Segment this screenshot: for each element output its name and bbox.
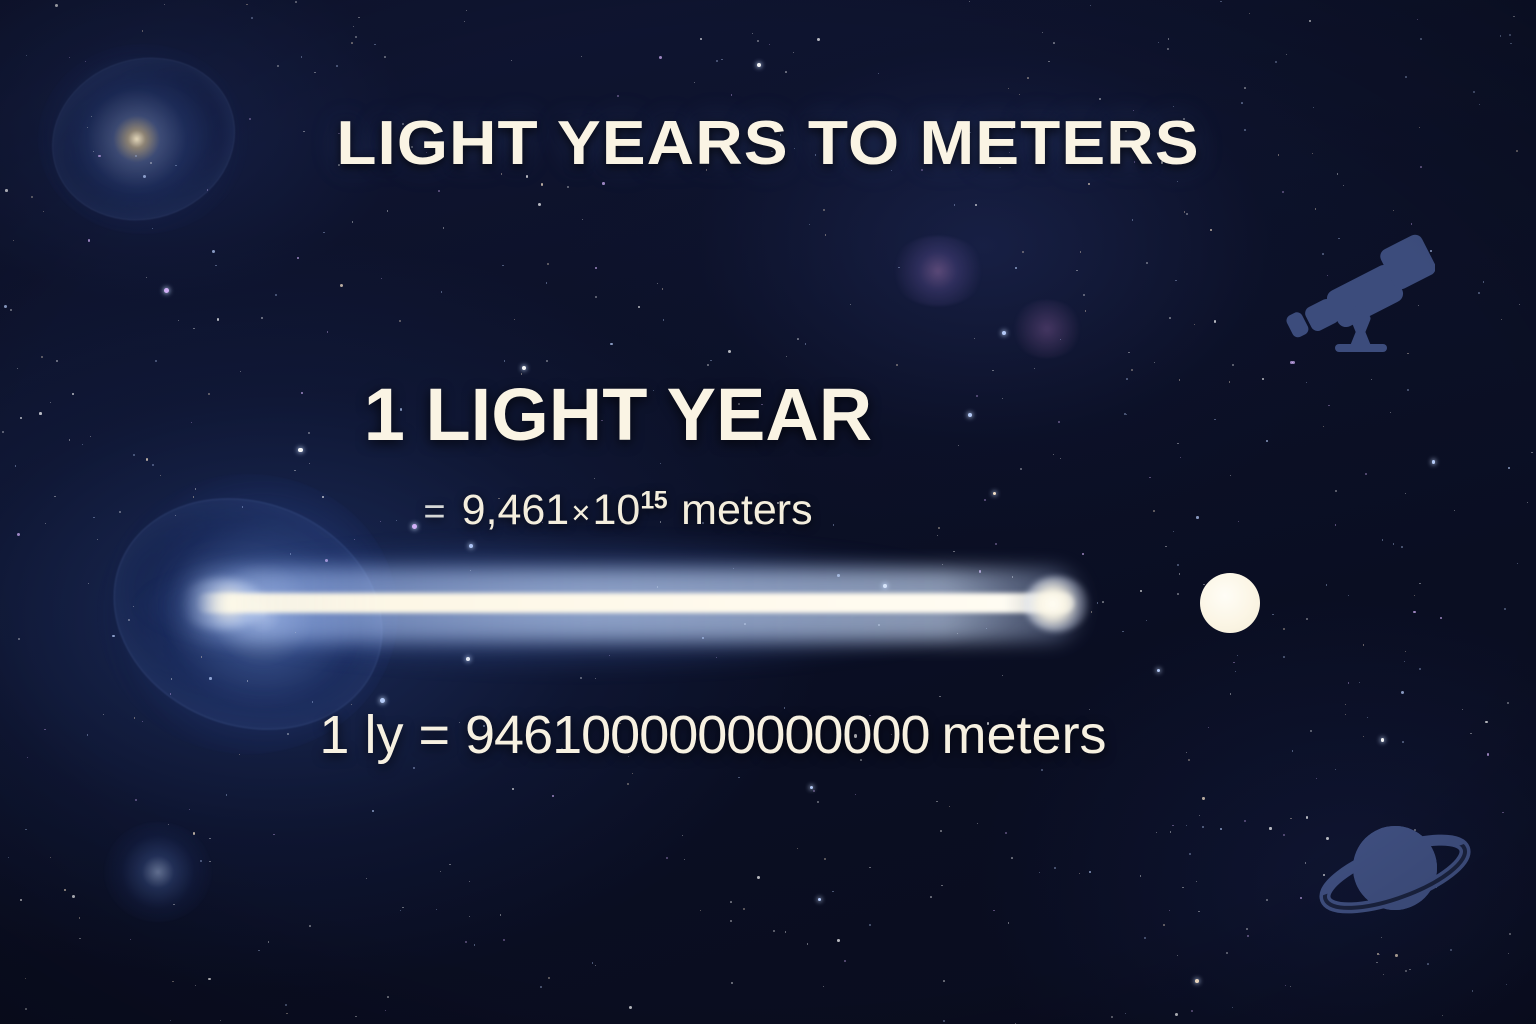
star [164, 4, 166, 6]
star [217, 318, 220, 321]
star [170, 1020, 171, 1021]
star [1290, 818, 1292, 820]
star [1186, 825, 1187, 826]
star [1401, 691, 1404, 694]
star [1198, 911, 1200, 913]
star [1405, 76, 1407, 78]
star [261, 317, 262, 318]
star [55, 4, 58, 7]
star [943, 980, 945, 982]
star [1393, 543, 1395, 545]
star [1315, 208, 1316, 209]
star [226, 794, 228, 796]
star [88, 239, 90, 241]
star [595, 267, 597, 269]
star [1048, 61, 1050, 63]
star [443, 227, 445, 229]
star [813, 790, 815, 792]
star [993, 910, 995, 912]
star [385, 1010, 386, 1011]
destination-star-sphere [1200, 573, 1260, 633]
star [1440, 617, 1442, 619]
star [1131, 369, 1133, 371]
star [1027, 77, 1029, 79]
star [1191, 1010, 1193, 1012]
nebula-cluster-icon [890, 236, 986, 306]
star [1002, 331, 1006, 335]
star [1088, 183, 1090, 185]
star [135, 799, 137, 801]
star [469, 916, 470, 917]
star [1244, 87, 1246, 89]
star [1419, 583, 1421, 585]
star [258, 950, 259, 951]
star [1034, 368, 1035, 369]
star [440, 871, 441, 872]
star [1237, 655, 1238, 656]
star [1199, 815, 1201, 817]
star [449, 864, 451, 866]
star [56, 360, 57, 361]
star [1306, 816, 1309, 819]
star [629, 1006, 632, 1009]
star [684, 859, 685, 860]
star [1508, 953, 1509, 954]
star [825, 234, 827, 236]
star [1249, 13, 1250, 14]
star [1517, 563, 1519, 565]
star [1285, 985, 1286, 986]
star [1011, 857, 1013, 859]
star [710, 360, 712, 362]
star [1510, 43, 1512, 45]
star [824, 858, 826, 860]
star [327, 331, 329, 333]
star [1226, 952, 1228, 954]
star [1414, 595, 1415, 596]
star [72, 895, 75, 898]
star [155, 360, 157, 362]
star [757, 876, 760, 879]
star [50, 857, 51, 858]
star [627, 783, 629, 785]
star [730, 920, 732, 922]
star [1156, 832, 1157, 833]
star [64, 889, 67, 892]
star [546, 360, 548, 362]
star [1405, 651, 1406, 652]
star [336, 65, 338, 67]
star [581, 56, 582, 57]
star [694, 82, 695, 83]
star [757, 40, 759, 42]
star [1509, 34, 1511, 36]
star [547, 263, 549, 265]
star [1146, 262, 1148, 264]
star [1244, 820, 1246, 822]
multiplication-sign: × [571, 494, 590, 531]
star [975, 204, 978, 207]
star [1090, 5, 1091, 6]
star [659, 56, 662, 59]
star [595, 965, 596, 966]
star [1054, 867, 1056, 869]
star [940, 830, 942, 832]
light-beam [196, 593, 1074, 613]
star [807, 943, 808, 944]
star [1022, 251, 1024, 253]
star [503, 939, 505, 941]
star [1348, 595, 1349, 596]
star [1149, 477, 1151, 479]
star [43, 211, 45, 213]
star [1246, 928, 1248, 930]
star [1413, 611, 1415, 613]
star [1283, 628, 1285, 630]
star [773, 930, 775, 932]
star [716, 60, 718, 62]
star [500, 914, 501, 915]
star [195, 985, 196, 986]
star [1194, 324, 1195, 325]
star [1502, 812, 1504, 814]
star [1015, 1023, 1016, 1024]
star [731, 982, 732, 983]
star [786, 356, 788, 358]
star [752, 33, 753, 34]
star [939, 696, 940, 697]
star [400, 910, 401, 911]
star [617, 95, 619, 97]
star [246, 4, 248, 6]
star [1214, 320, 1217, 323]
star [1513, 16, 1515, 18]
power-base: 10 [593, 486, 641, 534]
nebula-cluster-icon [1010, 300, 1084, 358]
star [823, 209, 825, 211]
star [797, 338, 799, 340]
star [1019, 94, 1021, 96]
star [522, 366, 526, 370]
star [353, 26, 354, 27]
star [869, 867, 871, 869]
star [41, 356, 43, 358]
full-number-equation: 1 ly = 9461000000000000meters [0, 704, 1536, 766]
star [314, 72, 316, 74]
star [1177, 955, 1179, 957]
star [1290, 361, 1293, 364]
star [1417, 19, 1418, 20]
star [1419, 668, 1421, 670]
star [1079, 873, 1080, 874]
star [1506, 984, 1507, 985]
star [1230, 693, 1231, 694]
star [1359, 682, 1360, 683]
star [1154, 362, 1155, 363]
star [208, 978, 210, 980]
star [1179, 573, 1181, 575]
star [1177, 181, 1178, 182]
star [1247, 935, 1248, 936]
star [1158, 42, 1159, 43]
star [1140, 875, 1142, 877]
star [351, 42, 353, 44]
light-year-infographic: LIGHT YEARS TO METERS 1 LIGHT YEAR =9,46… [0, 0, 1536, 1024]
star [355, 36, 357, 38]
star [1405, 970, 1407, 972]
star [387, 996, 389, 998]
star [954, 204, 956, 206]
star [352, 221, 354, 223]
star [1182, 887, 1183, 888]
ringed-planet-icon [1315, 812, 1475, 937]
star [142, 30, 144, 32]
star [546, 282, 548, 284]
star [1393, 210, 1394, 211]
star [1504, 608, 1506, 610]
star [728, 350, 731, 353]
star [1076, 270, 1078, 272]
star [277, 65, 279, 67]
star [25, 978, 27, 980]
star [1202, 797, 1204, 799]
star [387, 210, 389, 212]
spiral-galaxy-icon-bottom-left [104, 822, 212, 922]
star [1169, 910, 1171, 912]
star [1483, 281, 1485, 283]
star [1292, 361, 1295, 364]
star [660, 463, 661, 464]
star [511, 60, 512, 61]
star [1210, 229, 1212, 231]
star [502, 265, 503, 266]
star [974, 338, 975, 339]
star [793, 52, 794, 53]
star [1196, 881, 1197, 882]
star [1008, 88, 1009, 89]
unit-label: meters [942, 705, 1107, 765]
star [275, 294, 277, 296]
star [738, 777, 740, 779]
star [297, 257, 299, 259]
star [817, 801, 819, 803]
star [1305, 862, 1307, 864]
star [837, 939, 840, 942]
star [930, 896, 932, 898]
star [5, 189, 8, 192]
star [602, 182, 605, 185]
mantissa-value: 9,461 [462, 486, 570, 534]
star [1177, 564, 1179, 566]
star [1111, 1016, 1113, 1018]
star [769, 44, 770, 45]
star [4, 305, 7, 308]
star [1478, 292, 1480, 294]
star [1184, 211, 1185, 212]
star [594, 478, 595, 479]
star [1089, 871, 1091, 873]
star [1509, 933, 1511, 935]
star [1080, 251, 1081, 252]
star [340, 284, 343, 287]
star [146, 458, 149, 461]
star [707, 364, 709, 366]
star [18, 638, 20, 640]
star [1230, 475, 1232, 477]
star [552, 795, 554, 797]
star [936, 801, 938, 803]
star [1220, 828, 1222, 830]
star [582, 219, 583, 220]
star [413, 767, 414, 768]
star [381, 278, 382, 279]
star [1269, 827, 1271, 829]
star [1500, 35, 1502, 37]
star [657, 283, 658, 284]
star [13, 240, 14, 241]
star [88, 583, 89, 584]
star [682, 835, 684, 837]
star [1041, 769, 1043, 771]
star [1042, 32, 1043, 33]
power-exponent: 15 [640, 487, 667, 515]
star [1472, 990, 1474, 992]
star [152, 464, 154, 466]
star [193, 328, 194, 329]
star [757, 63, 761, 67]
star [209, 838, 211, 840]
star [700, 910, 701, 911]
star [25, 829, 26, 830]
star [1241, 102, 1243, 104]
star [743, 908, 745, 910]
star [1099, 98, 1100, 99]
star [869, 924, 871, 926]
star [1326, 584, 1327, 585]
star [896, 364, 898, 366]
star [465, 941, 467, 943]
scientific-notation-equation: =9,461×1015meters [0, 486, 1536, 535]
star [1232, 364, 1234, 366]
star [380, 698, 385, 703]
star [146, 277, 147, 278]
star [1401, 546, 1403, 548]
star [441, 291, 443, 293]
star [1175, 1013, 1178, 1016]
star [1343, 185, 1344, 186]
star [1172, 825, 1174, 827]
star [610, 343, 613, 346]
star [1128, 352, 1130, 354]
star [31, 196, 33, 198]
star [1282, 191, 1284, 193]
star [286, 1013, 288, 1015]
star [592, 962, 594, 964]
star [268, 941, 270, 943]
star [797, 848, 798, 849]
star [1140, 590, 1142, 592]
unit-label: meters [681, 486, 812, 534]
star [178, 320, 179, 321]
star [26, 55, 27, 56]
star [943, 1020, 945, 1022]
star [10, 309, 12, 311]
star [1202, 826, 1203, 827]
star [464, 21, 465, 22]
star [1235, 671, 1236, 672]
star [1060, 458, 1061, 459]
star [79, 917, 81, 919]
star [844, 960, 846, 962]
star [220, 1020, 221, 1021]
star [20, 899, 22, 901]
star [721, 59, 723, 61]
star [1175, 280, 1176, 281]
star [1053, 42, 1055, 44]
star [541, 183, 544, 186]
star [567, 186, 569, 188]
star [1508, 467, 1510, 469]
star [1450, 949, 1452, 951]
star [1177, 593, 1179, 595]
star [977, 823, 978, 824]
star [1377, 953, 1379, 955]
star [810, 786, 814, 790]
star [949, 806, 951, 808]
star [1473, 91, 1475, 93]
star [1427, 963, 1429, 965]
star [130, 939, 131, 940]
star [358, 17, 360, 19]
star [1309, 20, 1311, 22]
telescope-icon [1285, 218, 1435, 358]
star [1275, 61, 1277, 63]
star [1168, 38, 1170, 40]
star [1165, 546, 1167, 548]
star [1348, 682, 1349, 683]
star [1376, 962, 1378, 964]
star [160, 475, 162, 477]
star [638, 306, 641, 309]
star [1286, 54, 1288, 56]
star [1306, 618, 1308, 620]
star [941, 885, 943, 887]
star [1122, 631, 1123, 632]
star [8, 857, 9, 858]
star [855, 794, 856, 795]
star [514, 319, 515, 320]
star [809, 224, 810, 225]
star [805, 343, 807, 345]
star [1501, 319, 1502, 320]
star [548, 977, 550, 979]
star [17, 368, 18, 369]
star [402, 907, 404, 909]
star [399, 320, 401, 322]
star [323, 232, 325, 234]
star [189, 809, 191, 811]
star [785, 931, 787, 933]
star [1085, 310, 1086, 311]
star [469, 881, 470, 882]
star [79, 938, 80, 939]
star [1442, 1015, 1443, 1016]
star [1132, 219, 1134, 221]
star [1233, 662, 1235, 664]
star [1363, 644, 1365, 646]
star [1169, 317, 1171, 319]
equals-sign: = [423, 491, 445, 533]
